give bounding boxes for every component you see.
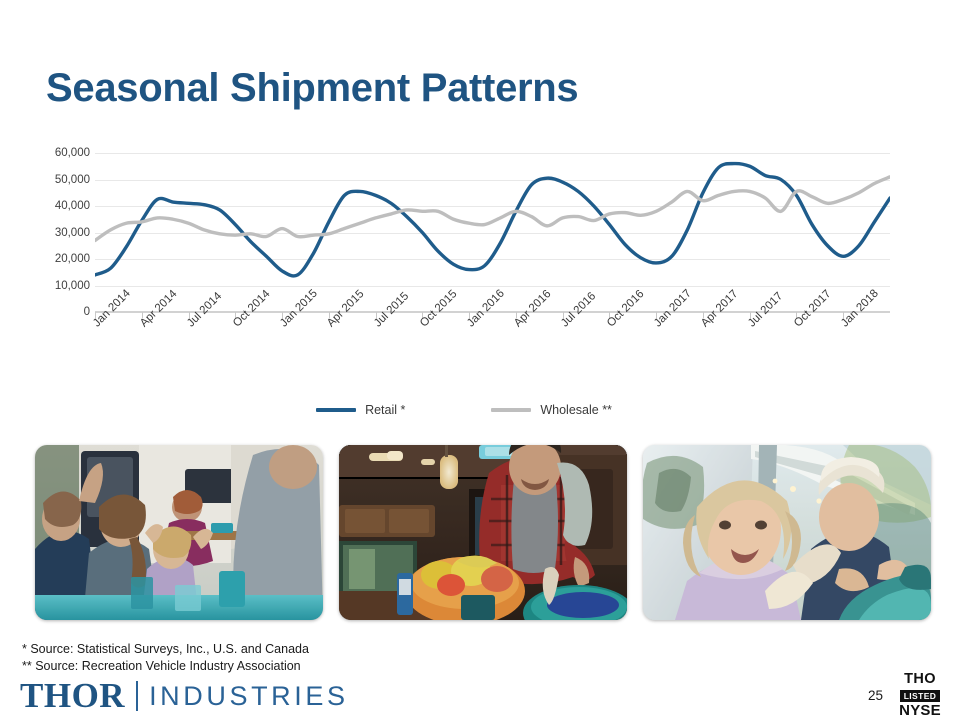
y-axis-tick-label: 10,000 — [55, 280, 90, 292]
photo-family-dining-outside-rv — [35, 445, 323, 620]
series-line-retail — [95, 164, 890, 276]
chart-legend: Retail *Wholesale ** — [14, 403, 914, 417]
thor-industries-logo: THOR INDUSTRIES — [20, 678, 349, 714]
logo-divider — [136, 681, 138, 711]
legend-swatch — [316, 408, 356, 412]
page-number: 25 — [868, 688, 883, 703]
y-axis-tick-label: 0 — [84, 306, 90, 318]
photo-2-artwork — [339, 445, 627, 620]
nyse-exchange-name: NYSE — [896, 703, 944, 718]
legend-label: Retail * — [365, 403, 405, 417]
legend-item-wholesale[interactable]: Wholesale ** — [491, 403, 612, 417]
nyse-listed-label: LISTED — [900, 690, 941, 702]
y-axis-tick-label: 50,000 — [55, 174, 90, 186]
photo-man-cooking-in-rv-kitchen — [339, 445, 627, 620]
legend-swatch — [491, 408, 531, 412]
y-axis-labels: 010,00020,00030,00040,00050,00060,000 — [14, 140, 90, 312]
nyse-ticker-symbol: THO — [896, 672, 944, 687]
nyse-listed-badge: THO LISTED NYSE — [896, 672, 944, 718]
y-axis-tick-label: 40,000 — [55, 200, 90, 212]
seasonal-shipment-chart: 010,00020,00030,00040,00050,00060,000 Re… — [14, 140, 914, 430]
photo-1-artwork — [35, 445, 323, 620]
photo-3-artwork — [643, 445, 931, 620]
logo-suffix-text: INDUSTRIES — [149, 681, 349, 711]
page-title: Seasonal Shipment Patterns — [46, 66, 578, 111]
legend-label: Wholesale ** — [540, 403, 612, 417]
y-axis-tick-label: 60,000 — [55, 147, 90, 159]
legend-item-retail[interactable]: Retail * — [316, 403, 405, 417]
y-axis-tick-label: 30,000 — [55, 227, 90, 239]
footnote-wholesale-source: ** Source: Recreation Vehicle Industry A… — [22, 658, 309, 675]
footnote-retail-source: * Source: Statistical Surveys, Inc., U.S… — [22, 641, 309, 658]
footnotes: * Source: Statistical Surveys, Inc., U.S… — [22, 641, 309, 675]
chart-series-svg — [95, 153, 890, 312]
y-axis-tick-label: 20,000 — [55, 253, 90, 265]
logo-brand-text: THOR — [20, 678, 125, 714]
photo-girls-playing-under-rv-awning — [643, 445, 931, 620]
